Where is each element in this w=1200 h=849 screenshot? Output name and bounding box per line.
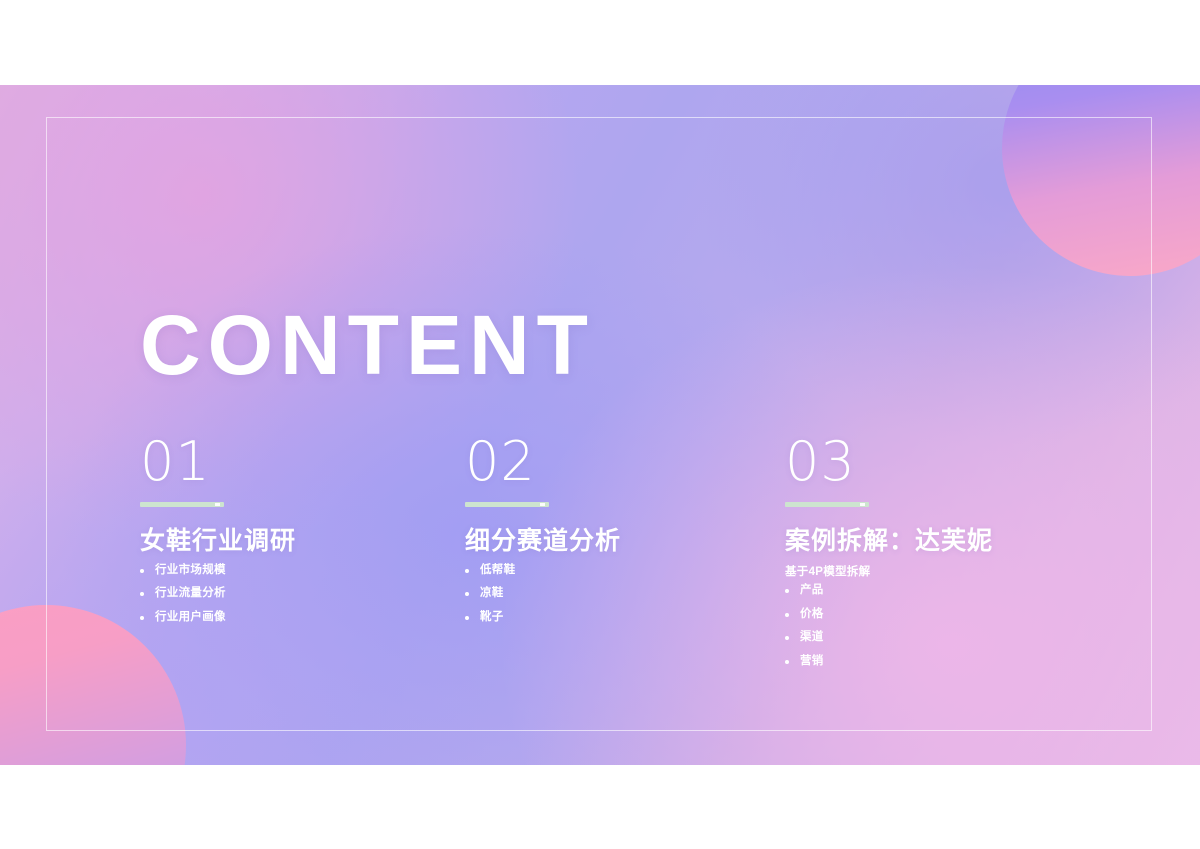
bullet-dot-icon: [140, 592, 144, 596]
section-heading: 女鞋行业调研: [140, 527, 440, 556]
list-item-label: 营销: [800, 656, 824, 668]
section-heading: 细分赛道分析: [465, 527, 765, 556]
section-number: 01: [140, 435, 440, 489]
section-number: 02: [465, 435, 765, 489]
content-columns: 01 女鞋行业调研 行业市场规模 行业流量分析 行业用户画像 02 细分赛道分析…: [0, 85, 1200, 765]
bullet-dot-icon: [785, 660, 789, 664]
list-item-label: 行业用户画像: [155, 612, 226, 624]
list-item-label: 靴子: [480, 612, 504, 624]
section-number: 03: [785, 435, 1085, 489]
list-item[interactable]: 靴子: [465, 612, 765, 624]
list-item-label: 行业市场规模: [155, 565, 226, 577]
section-subnote: 基于4P模型拆解: [785, 567, 1085, 579]
bullet-dot-icon: [140, 616, 144, 620]
bullet-dot-icon: [785, 636, 789, 640]
bullet-dot-icon: [465, 592, 469, 596]
section-item-list: 行业市场规模 行业流量分析 行业用户画像: [140, 565, 440, 624]
section-item-list: 产品 价格 渠道 营销: [785, 585, 1085, 667]
list-item-label: 行业流量分析: [155, 588, 226, 600]
list-item[interactable]: 产品: [785, 585, 1085, 597]
bullet-dot-icon: [785, 613, 789, 617]
section-heading: 案例拆解：达芙妮: [785, 527, 1085, 556]
list-item-label: 凉鞋: [480, 588, 504, 600]
list-item[interactable]: 行业用户画像: [140, 612, 440, 624]
bullet-dot-icon: [140, 569, 144, 573]
section-accent-rule: [465, 502, 549, 507]
list-item[interactable]: 渠道: [785, 632, 1085, 644]
bullet-dot-icon: [465, 569, 469, 573]
content-section-03: 03 案例拆解：达芙妮 基于4P模型拆解 产品 价格 渠道 营销: [785, 435, 1085, 679]
list-item[interactable]: 行业流量分析: [140, 588, 440, 600]
list-item[interactable]: 低帮鞋: [465, 565, 765, 577]
list-item-label: 价格: [800, 609, 824, 621]
list-item[interactable]: 行业市场规模: [140, 565, 440, 577]
bullet-dot-icon: [785, 589, 789, 593]
list-item-label: 渠道: [800, 632, 824, 644]
section-item-list: 低帮鞋 凉鞋 靴子: [465, 565, 765, 624]
content-section-02: 02 细分赛道分析 低帮鞋 凉鞋 靴子: [465, 435, 765, 635]
list-item[interactable]: 营销: [785, 656, 1085, 668]
list-item-label: 产品: [800, 585, 824, 597]
section-accent-rule: [140, 502, 224, 507]
bullet-dot-icon: [465, 616, 469, 620]
slide-canvas: CONTENT 01 女鞋行业调研 行业市场规模 行业流量分析 行业用户画像 0…: [0, 85, 1200, 765]
section-accent-rule: [785, 502, 869, 507]
content-section-01: 01 女鞋行业调研 行业市场规模 行业流量分析 行业用户画像: [140, 435, 440, 635]
list-item[interactable]: 价格: [785, 609, 1085, 621]
list-item-label: 低帮鞋: [480, 565, 515, 577]
list-item[interactable]: 凉鞋: [465, 588, 765, 600]
